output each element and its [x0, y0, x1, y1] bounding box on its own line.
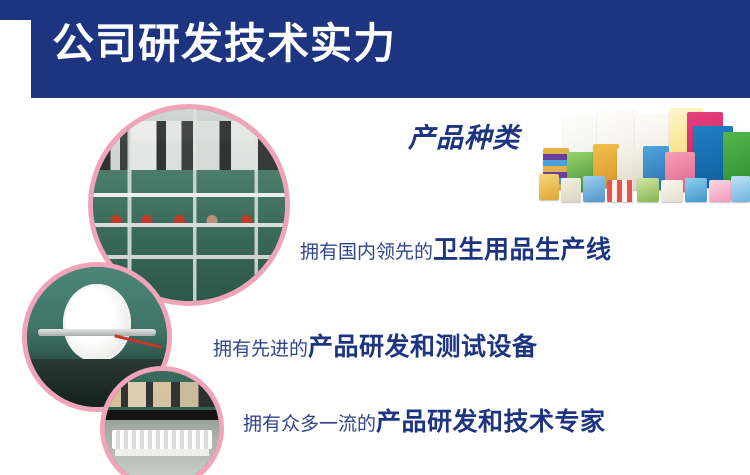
- conveyor-products-photo: [100, 366, 224, 475]
- product-collage-photo: [537, 108, 750, 204]
- paper-roll: [63, 284, 130, 362]
- conveyor-black-bar: [105, 410, 219, 420]
- bullet-2-emphasis: 产品研发和测试设备: [308, 333, 538, 361]
- bullet-3-emphasis: 产品研发和技术专家: [376, 408, 606, 436]
- bullet-line-2: 拥有先进的产品研发和测试设备: [213, 327, 538, 363]
- conveyor-products-image: [105, 371, 219, 475]
- slide-root: 公司研发技术实力 产品种类: [0, 0, 750, 475]
- production-line-rollers: [93, 205, 285, 236]
- collage-package-small: [685, 178, 707, 202]
- bullet-line-1: 拥有国内领先的卫生用品生产线: [300, 230, 612, 266]
- collage-package-small: [607, 180, 633, 202]
- bullet-line-3: 拥有众多一流的产品研发和技术专家: [243, 402, 606, 438]
- bullet-2-lead: 拥有先进的: [213, 339, 308, 360]
- collage-package-small: [731, 176, 750, 202]
- collage-package-small: [709, 180, 731, 202]
- bullet-3-lead: 拥有众多一流的: [243, 414, 376, 435]
- header-left-notch: [0, 20, 31, 98]
- bullet-1-emphasis: 卫生用品生产线: [433, 236, 612, 264]
- collage-package-small: [661, 180, 683, 202]
- conveyor-top-band: [105, 382, 219, 407]
- section-label-product-types: 产品种类: [408, 116, 520, 155]
- conveyor-product-stack: [112, 430, 212, 448]
- roll-axle-bar: [38, 329, 156, 336]
- page-title: 公司研发技术实力: [52, 17, 396, 71]
- collage-package-small: [561, 178, 581, 202]
- collage-package-small: [539, 174, 559, 200]
- collage-package-small: [637, 178, 659, 202]
- bullet-1-lead: 拥有国内领先的: [300, 242, 433, 263]
- collage-package-small: [583, 176, 605, 202]
